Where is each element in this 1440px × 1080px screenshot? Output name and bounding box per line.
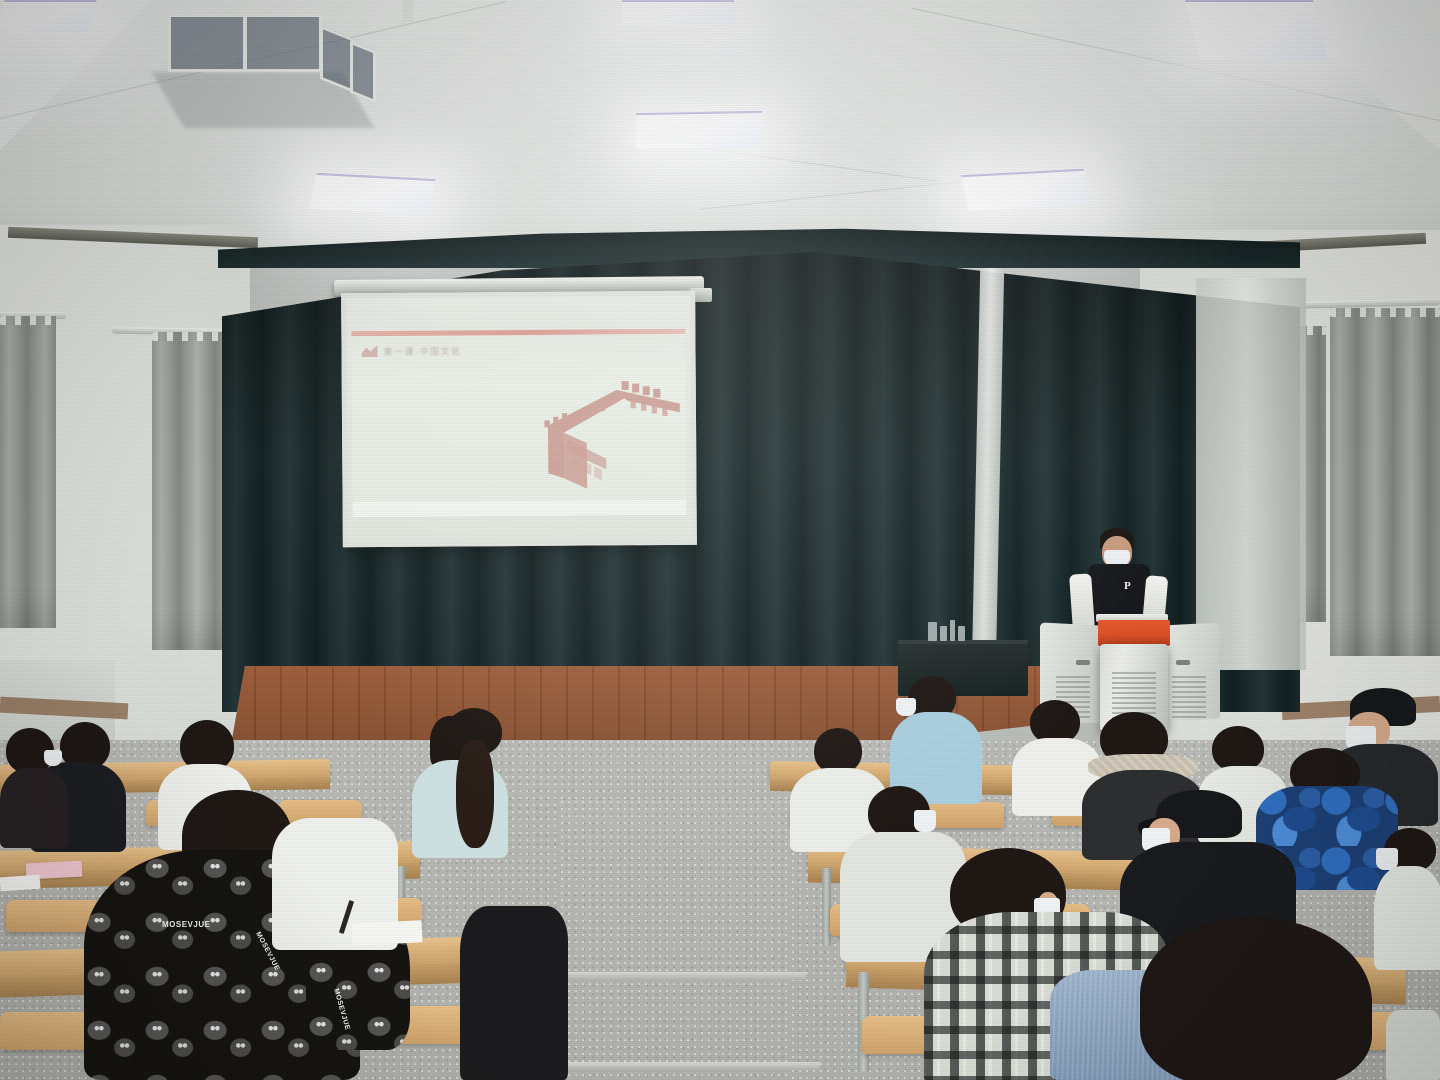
led-panel-back-left <box>0 0 97 32</box>
presenter-jacket-letter: P <box>1124 580 1131 592</box>
slide-title-text: 第一课·中国文化 <box>383 344 461 358</box>
led-panel-back-center <box>622 0 734 24</box>
student-center-low <box>460 906 570 1080</box>
student-right-corner <box>1386 1010 1440 1080</box>
desk-leg-right-2 <box>822 868 831 946</box>
student-head-long-hair <box>1140 918 1372 1080</box>
student-torso <box>1374 866 1440 970</box>
projector-glass-panel-2 <box>244 14 322 72</box>
student-left-back-3 <box>0 728 70 838</box>
aisle-step-nose-1 <box>546 972 806 980</box>
stage-wall-panel-right <box>1196 278 1306 670</box>
jacket-brand-text-1: MOSEVJUE <box>162 920 210 929</box>
student-face-mask <box>896 698 916 716</box>
led-panel-back-right <box>1185 0 1327 60</box>
student-center-pony <box>424 708 534 878</box>
worksheet-left <box>0 875 40 892</box>
student-right-far <box>1374 828 1440 960</box>
slide-footer-band <box>353 500 687 517</box>
aisle-step-nose-2 <box>530 1062 820 1070</box>
audience-aisle <box>560 800 790 1080</box>
student-face-mask <box>914 810 936 832</box>
student-right-front <box>1140 918 1390 1080</box>
student-face-mask <box>44 750 62 766</box>
projection-screen: 第一课·中国文化 <box>341 291 697 547</box>
projected-slide: 第一课·中国文化 <box>351 329 686 517</box>
slide-accent-bar <box>351 329 685 336</box>
podium-slot-left <box>1076 660 1090 665</box>
podium-top-panel <box>1098 620 1170 646</box>
student-torso <box>0 768 68 848</box>
stage-table-item-3 <box>950 620 955 641</box>
student-torso <box>460 906 568 1080</box>
student-right-blue <box>890 676 984 800</box>
great-wall-illustration <box>518 371 695 492</box>
projector-glass-panel-4 <box>350 41 376 104</box>
window-curtain-right <box>1330 308 1440 656</box>
student-torso <box>1386 1010 1440 1080</box>
lecture-hall-photo: 第一课·中国文化 <box>0 0 1440 1080</box>
slide-logo-icon <box>361 345 377 357</box>
presenter-sleeve-left <box>1069 573 1095 630</box>
stage-table-item-1 <box>928 622 937 641</box>
student-ponytail <box>456 740 494 848</box>
projector-mount-stem <box>403 0 413 22</box>
projector-glass-panel-1 <box>168 14 246 72</box>
led-panel-front-right <box>961 169 1091 211</box>
stage-table-item-4 <box>958 626 965 641</box>
worksheet-left-2 <box>351 920 422 946</box>
projector-housing <box>160 0 410 135</box>
stage-table-item-2 <box>940 626 947 641</box>
window-curtain-far-left <box>0 316 56 628</box>
led-panel-front-center <box>636 111 762 149</box>
led-panel-front-left <box>309 173 436 215</box>
ceiling-seam-center-2 <box>701 181 960 209</box>
podium-slot-right <box>1176 660 1190 665</box>
